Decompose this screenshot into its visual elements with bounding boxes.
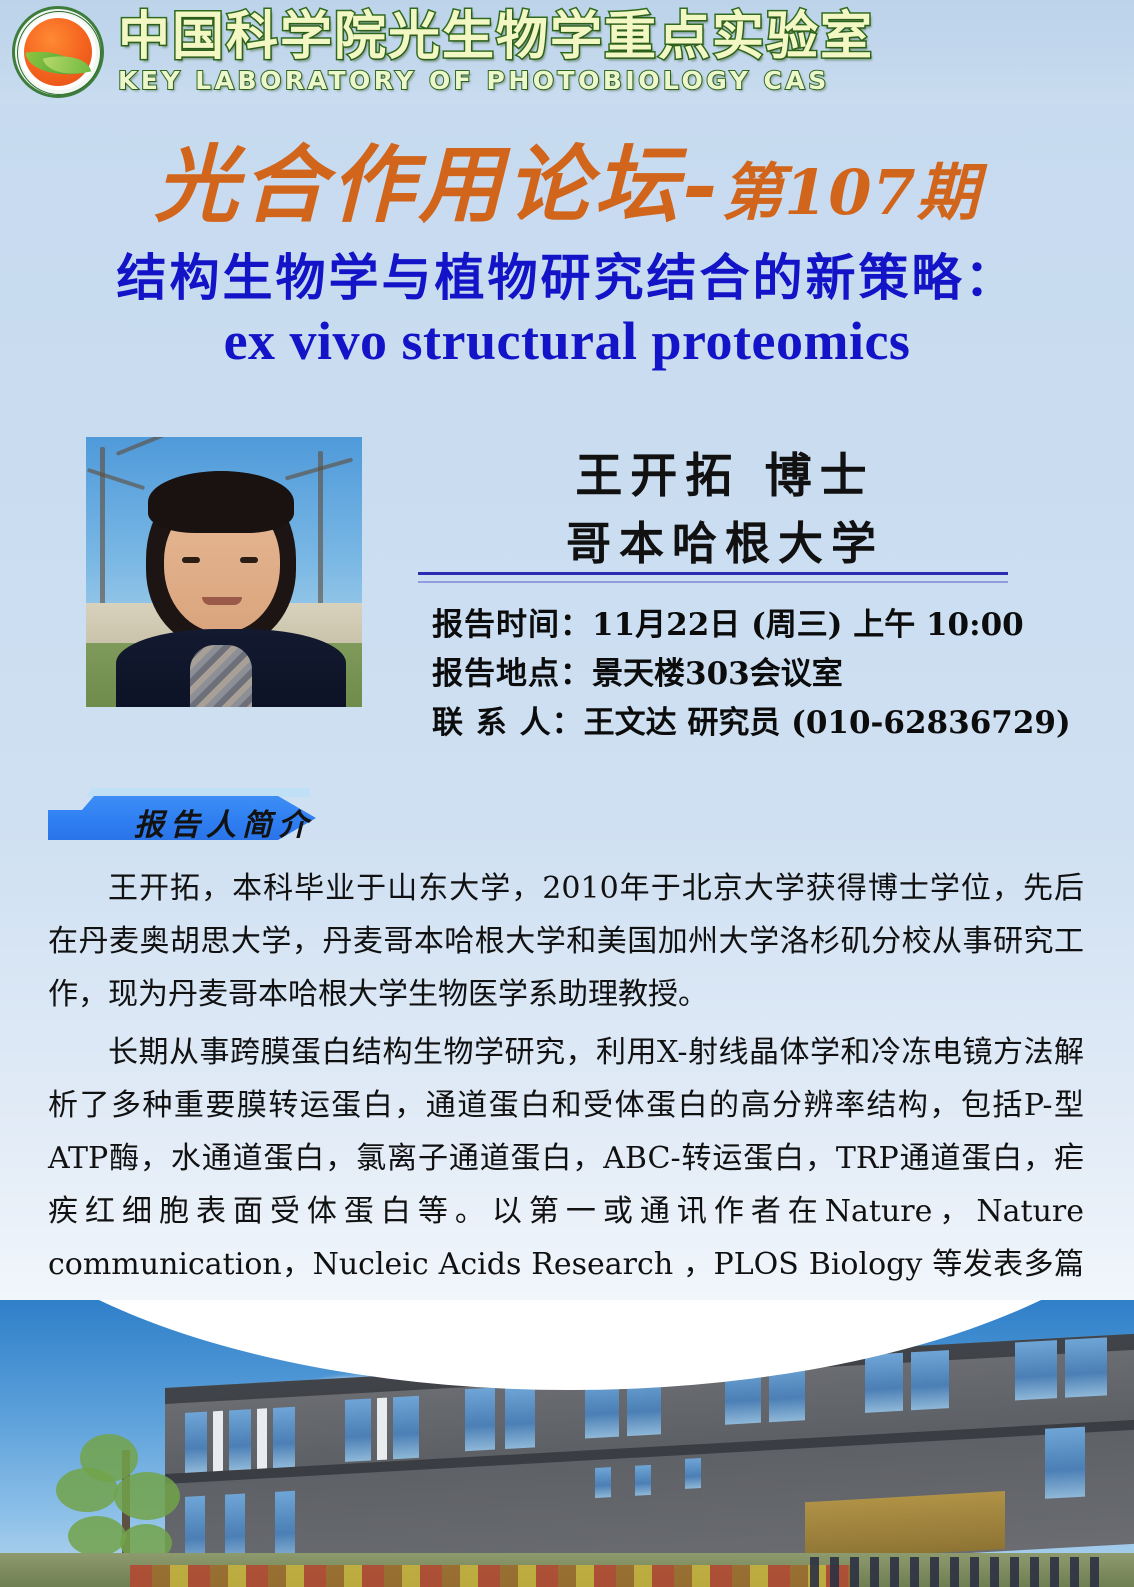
talk-subtitle-en: ex vivo structural proteomics: [0, 310, 1134, 372]
header-text-block: 中国科学院光生物学重点实验室 KEY LABORATORY OF PHOTOBI…: [118, 11, 874, 93]
speaker-affiliation: 哥本哈根大学: [415, 507, 1035, 572]
forum-title: 光合作用论坛-第107期: [0, 118, 1134, 239]
divider-line-primary: [418, 572, 1008, 575]
divider-line-secondary: [418, 581, 1008, 583]
event-details: 报告时间：11月22日 (周三) 上午 10:00 报告地点：景天楼303会议室…: [432, 603, 1052, 750]
lab-name-cn: 中国科学院光生物学重点实验室: [118, 11, 874, 63]
people-silhouettes: [810, 1557, 1110, 1587]
detail-row-contact: 联 系 人：王文达 研究员 (010-62836729): [432, 701, 1052, 746]
talk-subtitle-cn: 结构生物学与植物研究结合的新策略：: [0, 238, 1134, 310]
venue-label: 报告地点：: [432, 656, 592, 692]
bio-paragraph-1: 王开拓，本科毕业于山东大学，2010年于北京大学获得博士学位，先后在丹麦奥胡思大…: [48, 862, 1084, 1021]
forum-title-text: 光合作用论坛-: [154, 135, 721, 234]
bio-section-banner: 报告人简介: [48, 788, 318, 840]
speaker-bio: 王开拓，本科毕业于山东大学，2010年于北京大学获得博士学位，先后在丹麦奥胡思大…: [48, 862, 1084, 1349]
forum-issue-number: 第107期: [721, 156, 979, 229]
institute-building-photo: [0, 1300, 1134, 1587]
bio-paragraph-2: 长期从事跨膜蛋白结构生物学研究，利用X-射线晶体学和冷冻电镜方法解析了多种重要膜…: [48, 1026, 1084, 1344]
lab-logo-icon: [12, 6, 104, 98]
seminar-poster: 中国科学院光生物学重点实验室 KEY LABORATORY OF PHOTOBI…: [0, 0, 1134, 1587]
speaker-portrait: [86, 437, 362, 707]
detail-row-venue: 报告地点：景天楼303会议室: [432, 652, 1052, 697]
banner-label: 报告人简介: [134, 800, 314, 844]
venue-value: 景天楼303会议室: [592, 656, 843, 692]
speaker-name: 王开拓 博士: [415, 437, 1035, 506]
detail-row-time: 报告时间：11月22日 (周三) 上午 10:00: [432, 603, 1052, 648]
lab-name-en: KEY LABORATORY OF PHOTOBIOLOGY CAS: [118, 68, 874, 93]
contact-label: 联 系 人：: [432, 705, 584, 741]
banner-highlight-strip: [86, 788, 310, 797]
contact-value: 王文达 研究员 (010-62836729): [584, 705, 1071, 741]
time-value: 11月22日 (周三) 上午 10:00: [592, 607, 1024, 643]
poster-header: 中国科学院光生物学重点实验室 KEY LABORATORY OF PHOTOBI…: [0, 0, 1134, 104]
time-label: 报告时间：: [432, 607, 592, 643]
